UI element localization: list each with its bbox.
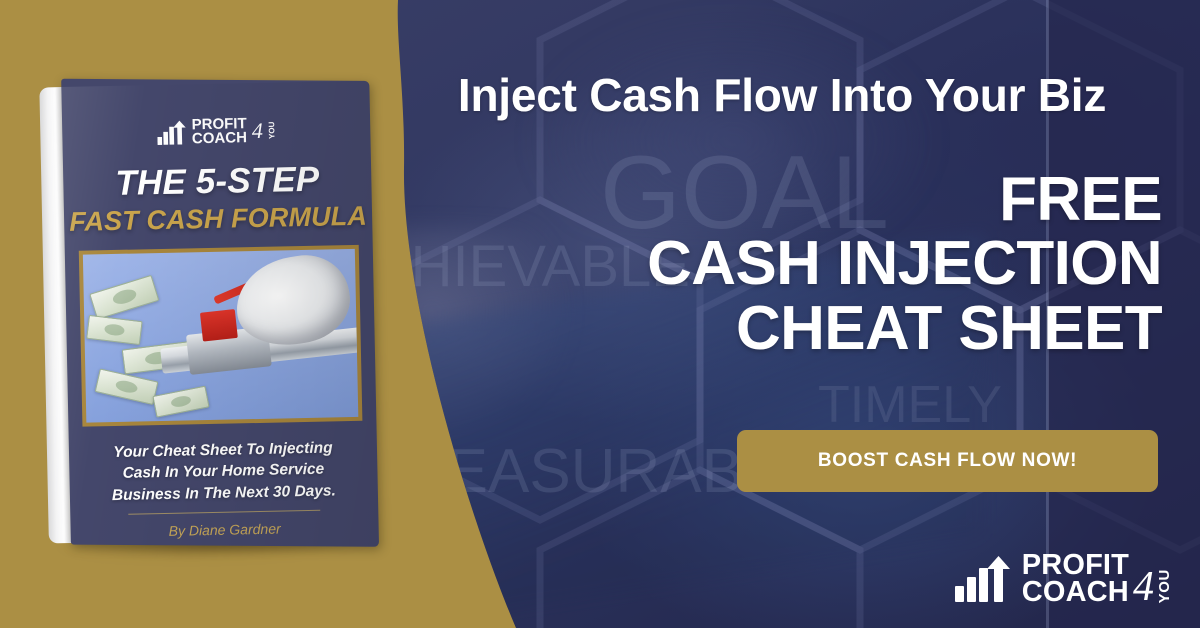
book-title-line-2: FAST CASH FORMULA <box>64 201 373 238</box>
logo-line-coach: COACH <box>1022 579 1129 606</box>
boost-cash-flow-button[interactable]: BOOST CASH FLOW NOW! <box>737 430 1158 492</box>
book-divider <box>128 510 320 515</box>
ghost-text-timely: TIMELY <box>818 376 1002 434</box>
logo-numeral-4: 4 <box>1133 570 1154 606</box>
bar-chart-arrow-icon <box>955 556 1013 602</box>
book-title-line-1: THE 5-STEP <box>63 159 372 205</box>
logo-line-profit: PROFIT <box>1022 552 1129 579</box>
main-heading-line-3: CHEAT SHEET <box>647 297 1162 361</box>
book-cover: PROFIT COACH 4 YOU THE 5-STEP FAST CASH … <box>61 79 379 547</box>
book-logo-suffix-you: YOU <box>268 122 276 140</box>
ebook-mockup: PROFIT COACH 4 YOU THE 5-STEP FAST CASH … <box>39 55 379 562</box>
banner-headline: Inject Cash Flow Into Your Biz <box>402 68 1162 122</box>
profit-coach-4-you-logo[interactable]: PROFIT COACH 4 YOU <box>955 552 1172 606</box>
main-heading-line-1: FREE <box>647 168 1162 232</box>
book-cover-logo: PROFIT COACH 4 YOU <box>62 115 371 149</box>
promo-banner: GOAL ACHIEVABLE MEASURABLE TIMELY Inject… <box>0 0 1200 628</box>
book-cover-image-frame <box>79 245 363 427</box>
ghost-text-achievable: ACHIEVABLE <box>330 234 690 299</box>
book-logo-line-coach: COACH <box>192 131 247 146</box>
bar-chart-arrow-icon <box>157 120 187 145</box>
book-logo-numeral-4: 4 <box>252 122 263 140</box>
book-author: By Diane Gardner <box>71 518 379 540</box>
main-heading-line-2: CASH INJECTION <box>647 232 1162 296</box>
gloved-hand-valve-money-icon <box>83 249 358 423</box>
logo-suffix-you: YOU <box>1157 569 1172 603</box>
book-subtitle: Your Cheat Sheet To Injecting Cash In Yo… <box>83 437 364 507</box>
main-heading: FREE CASH INJECTION CHEAT SHEET <box>647 168 1162 361</box>
